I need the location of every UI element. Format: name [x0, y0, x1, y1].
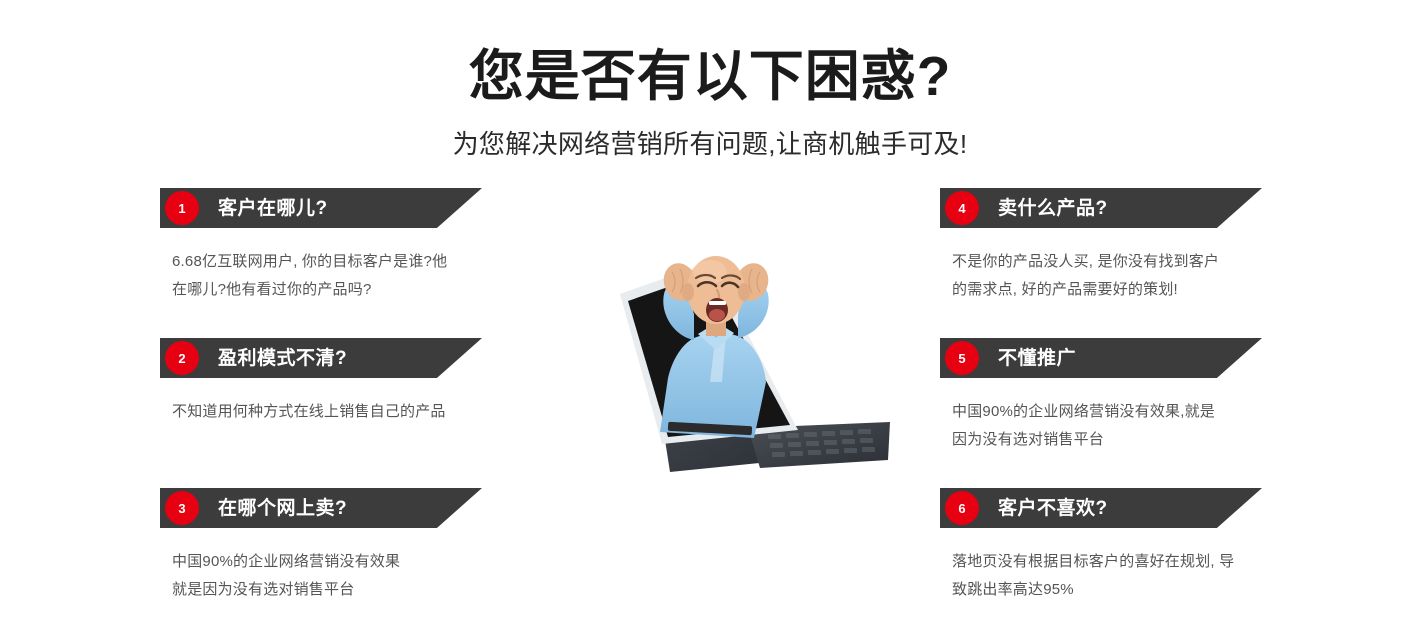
center-illustration — [598, 232, 918, 480]
card-description-line: 致跳出率高达95% — [952, 576, 1252, 604]
frustrated-man-tablet-icon — [598, 232, 918, 480]
card-description-line: 中国90%的企业网络营销没有效果 — [172, 548, 472, 576]
right-card-column: 4 卖什么产品? 不是你的产品没人买, 是你没有找到客户 的需求点, 好的产品需… — [940, 188, 1270, 638]
card-description-line: 在哪儿?他有看过你的产品吗? — [172, 276, 472, 304]
card-description: 不是你的产品没人买, 是你没有找到客户 的需求点, 好的产品需要好的策划! — [952, 248, 1252, 304]
card-description: 中国90%的企业网络营销没有效果,就是 因为没有选对销售平台 — [952, 398, 1252, 454]
card-number-badge: 2 — [165, 341, 199, 375]
card-ribbon: 3 在哪个网上卖? — [160, 488, 482, 528]
card-description: 不知道用何种方式在线上销售自己的产品 — [172, 398, 472, 426]
card-title: 在哪个网上卖? — [218, 499, 347, 518]
problem-card-5[interactable]: 5 不懂推广 中国90%的企业网络营销没有效果,就是 因为没有选对销售平台 — [940, 338, 1270, 488]
card-number-badge: 3 — [165, 491, 199, 525]
card-number-badge: 4 — [945, 191, 979, 225]
card-description-line: 不知道用何种方式在线上销售自己的产品 — [172, 398, 472, 426]
card-title: 客户不喜欢? — [998, 499, 1108, 518]
problem-card-1[interactable]: 1 客户在哪儿? 6.68亿互联网用户, 你的目标客户是谁?他 在哪儿?他有看过… — [160, 188, 490, 338]
card-ribbon: 4 卖什么产品? — [940, 188, 1262, 228]
card-description-line: 的需求点, 好的产品需要好的策划! — [952, 276, 1252, 304]
landing-page-section: 您是否有以下困惑? 为您解决网络营销所有问题,让商机触手可及! 1 客户在哪儿?… — [0, 0, 1420, 639]
card-ribbon: 5 不懂推广 — [940, 338, 1262, 378]
card-description-line: 中国90%的企业网络营销没有效果,就是 — [952, 398, 1252, 426]
card-title: 卖什么产品? — [998, 199, 1108, 218]
problem-card-2[interactable]: 2 盈利模式不清? 不知道用何种方式在线上销售自己的产品 — [160, 338, 490, 488]
card-title: 客户在哪儿? — [218, 199, 328, 218]
card-description: 中国90%的企业网络营销没有效果 就是因为没有选对销售平台 — [172, 548, 472, 604]
left-card-column: 1 客户在哪儿? 6.68亿互联网用户, 你的目标客户是谁?他 在哪儿?他有看过… — [160, 188, 490, 638]
card-number-badge: 6 — [945, 491, 979, 525]
card-ribbon: 1 客户在哪儿? — [160, 188, 482, 228]
problem-card-6[interactable]: 6 客户不喜欢? 落地页没有根据目标客户的喜好在规划, 导 致跳出率高达95% — [940, 488, 1270, 638]
card-title: 盈利模式不清? — [218, 349, 347, 368]
card-number-badge: 5 — [945, 341, 979, 375]
card-description-line: 因为没有选对销售平台 — [952, 426, 1252, 454]
card-description: 落地页没有根据目标客户的喜好在规划, 导 致跳出率高达95% — [952, 548, 1252, 604]
page-header: 您是否有以下困惑? 为您解决网络营销所有问题,让商机触手可及! — [0, 46, 1420, 161]
problem-card-4[interactable]: 4 卖什么产品? 不是你的产品没人买, 是你没有找到客户 的需求点, 好的产品需… — [940, 188, 1270, 338]
card-ribbon: 6 客户不喜欢? — [940, 488, 1262, 528]
card-description-line: 6.68亿互联网用户, 你的目标客户是谁?他 — [172, 248, 472, 276]
page-subtitle: 为您解决网络营销所有问题,让商机触手可及! — [0, 124, 1420, 161]
card-description-line: 落地页没有根据目标客户的喜好在规划, 导 — [952, 548, 1252, 576]
page-title: 您是否有以下困惑? — [0, 46, 1420, 108]
card-description: 6.68亿互联网用户, 你的目标客户是谁?他 在哪儿?他有看过你的产品吗? — [172, 248, 472, 304]
card-title: 不懂推广 — [998, 349, 1076, 368]
card-number-badge: 1 — [165, 191, 199, 225]
card-ribbon: 2 盈利模式不清? — [160, 338, 482, 378]
card-description-line: 就是因为没有选对销售平台 — [172, 576, 472, 604]
card-description-line: 不是你的产品没人买, 是你没有找到客户 — [952, 248, 1252, 276]
problem-card-3[interactable]: 3 在哪个网上卖? 中国90%的企业网络营销没有效果 就是因为没有选对销售平台 — [160, 488, 490, 638]
